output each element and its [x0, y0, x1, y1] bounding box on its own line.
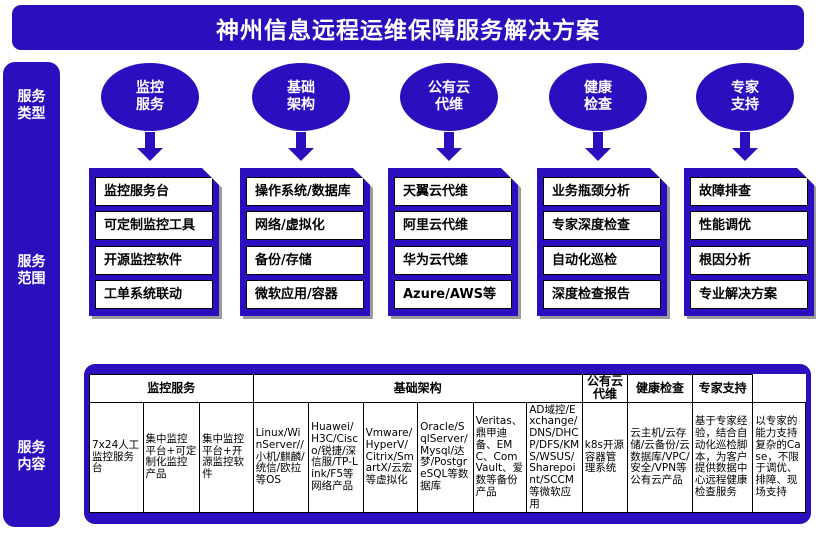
down-arrow-icon: [436, 132, 462, 162]
scope-item[interactable]: 华为云代维: [394, 246, 512, 275]
down-arrow-icon: [585, 132, 611, 162]
table-header-monitoring: 监控服务: [90, 375, 254, 403]
table-cell: Linux/WinServer//小机/麒麟/统信/欧拉等OS: [253, 402, 309, 512]
scope-item[interactable]: 性能调优: [690, 211, 808, 240]
scope-item[interactable]: 微软应用/容器: [246, 280, 364, 309]
rail-label-service-scope: 服务 范围: [3, 254, 60, 287]
ellipse-line1: 健康: [584, 80, 612, 97]
rail-label-line1: 服务: [3, 440, 60, 457]
table-cell: 云主机/云存储/云备份/云数据库/VPC/安全/VPN等公有云产品: [628, 402, 693, 512]
scope-item[interactable]: 专家深度检查: [543, 211, 661, 240]
ellipse-line1: 专家: [731, 80, 759, 97]
table-header-public-cloud: 公有云代维: [582, 375, 627, 403]
table-cell: Huawei/H3C/Cisco/锐捷/深信服/TP-Link/F5等网络产品: [309, 402, 364, 512]
scope-item[interactable]: 网络/虚拟化: [246, 211, 364, 240]
scope-item[interactable]: 故障排查: [690, 177, 808, 206]
page-title: 神州信息远程运维保障服务解决方案: [12, 5, 804, 50]
rail-label-line2: 类型: [3, 106, 60, 123]
service-content-container: 监控服务 基础架构 公有云代维 健康检查 专家支持 7x24人工监控服务台 集中…: [84, 364, 811, 524]
scope-item[interactable]: 开源监控软件: [95, 246, 213, 275]
table-header-health-check: 健康检查: [628, 375, 693, 403]
down-arrow-icon: [732, 132, 758, 162]
table-cell: AD域控/Exchange/DNS/DHCP/DFS/KMS/WSUS/Shar…: [527, 402, 583, 512]
category-ellipse-expert-support[interactable]: 专家 支持: [696, 63, 794, 131]
table-row: 7x24人工监控服务台 集中监控平台+可定制化监控产品 集中监控平台+开源监控软…: [90, 402, 806, 512]
table-cell: k8s开源容器管理系统: [582, 402, 627, 512]
ellipse-line2: 架构: [287, 97, 315, 114]
scope-item[interactable]: 自动化巡检: [543, 246, 661, 275]
rail-label-line2: 内容: [3, 457, 60, 474]
service-content-table: 监控服务 基础架构 公有云代维 健康检查 专家支持 7x24人工监控服务台 集中…: [89, 374, 806, 513]
scope-panel-infrastructure: 操作系统/数据库 网络/虚拟化 备份/存储 微软应用/容器: [240, 168, 370, 316]
table-cell: 7x24人工监控服务台: [90, 402, 144, 512]
down-arrow-icon: [137, 132, 163, 162]
rail-label-line1: 服务: [3, 89, 60, 106]
scope-panel-monitoring: 监控服务台 可定制监控工具 开源监控软件 工单系统联动: [89, 168, 219, 316]
rail-label-line1: 服务: [3, 254, 60, 271]
scope-item[interactable]: 备份/存储: [246, 246, 364, 275]
ellipse-line1: 基础: [287, 80, 315, 97]
table-header-expert-support: 专家支持: [692, 375, 753, 403]
scope-item[interactable]: 操作系统/数据库: [246, 177, 364, 206]
scope-item[interactable]: 专业解决方案: [690, 280, 808, 309]
category-ellipse-infrastructure[interactable]: 基础 架构: [252, 63, 350, 131]
scope-item[interactable]: 可定制监控工具: [95, 211, 213, 240]
solution-diagram: 神州信息远程运维保障服务解决方案 服务 类型 服务 范围 服务 内容 监控 服务…: [0, 0, 816, 533]
scope-item[interactable]: 工单系统联动: [95, 280, 213, 309]
ellipse-line2: 服务: [136, 97, 164, 114]
ellipse-line2: 支持: [731, 97, 759, 114]
scope-panel-expert-support: 故障排查 性能调优 根因分析 专业解决方案: [684, 168, 814, 316]
scope-item[interactable]: Azure/AWS等: [394, 280, 512, 309]
category-ellipse-health-check[interactable]: 健康 检查: [549, 63, 647, 131]
scope-item[interactable]: 业务瓶颈分析: [543, 177, 661, 206]
scope-item[interactable]: 天翼云代维: [394, 177, 512, 206]
rail-label-service-content: 服务 内容: [3, 440, 60, 473]
table-cell: Vmware/HyperV/Citrix/SmartX/云宏等虚拟化: [363, 402, 418, 512]
table-header-infrastructure: 基础架构: [253, 375, 582, 403]
scope-item[interactable]: 阿里云代维: [394, 211, 512, 240]
scope-item[interactable]: 监控服务台: [95, 177, 213, 206]
ellipse-line1: 监控: [136, 80, 164, 97]
ellipse-line1: 公有云: [428, 80, 470, 97]
table-cell: Veritas、鼎甲迪备、EMC、ComVault、爱数等备份产品: [473, 402, 527, 512]
table-cell: 集中监控平台+开源监控软件: [200, 402, 254, 512]
left-rail: 服务 类型 服务 范围 服务 内容: [3, 62, 60, 527]
down-arrow-icon: [288, 132, 314, 162]
table-cell: 基于专家经验，结合自动化巡检脚本，为客户提供数据中心远程健康检查服务: [692, 402, 753, 512]
scope-panel-public-cloud: 天翼云代维 阿里云代维 华为云代维 Azure/AWS等: [388, 168, 518, 316]
ellipse-line2: 检查: [584, 97, 612, 114]
category-ellipse-public-cloud[interactable]: 公有云 代维: [400, 63, 498, 131]
rail-label-service-type: 服务 类型: [3, 89, 60, 122]
table-header-row: 监控服务 基础架构 公有云代维 健康检查 专家支持: [90, 375, 806, 403]
table-cell: 集中监控平台+可定制化监控产品: [143, 402, 200, 512]
scope-item[interactable]: 深度检查报告: [543, 280, 661, 309]
rail-label-line2: 范围: [3, 271, 60, 288]
table-cell: 以专家的能力支持复杂的Case，不限于调优、排障、现场支持: [753, 402, 806, 512]
scope-item[interactable]: 根因分析: [690, 246, 808, 275]
ellipse-line2: 代维: [435, 97, 463, 114]
scope-panel-health-check: 业务瓶颈分析 专家深度检查 自动化巡检 深度检查报告: [537, 168, 667, 316]
category-ellipse-monitoring[interactable]: 监控 服务: [101, 63, 199, 131]
table-cell: Oracle/SqlServer/Mysql/达梦/PostgreSQL等数据库: [418, 402, 474, 512]
